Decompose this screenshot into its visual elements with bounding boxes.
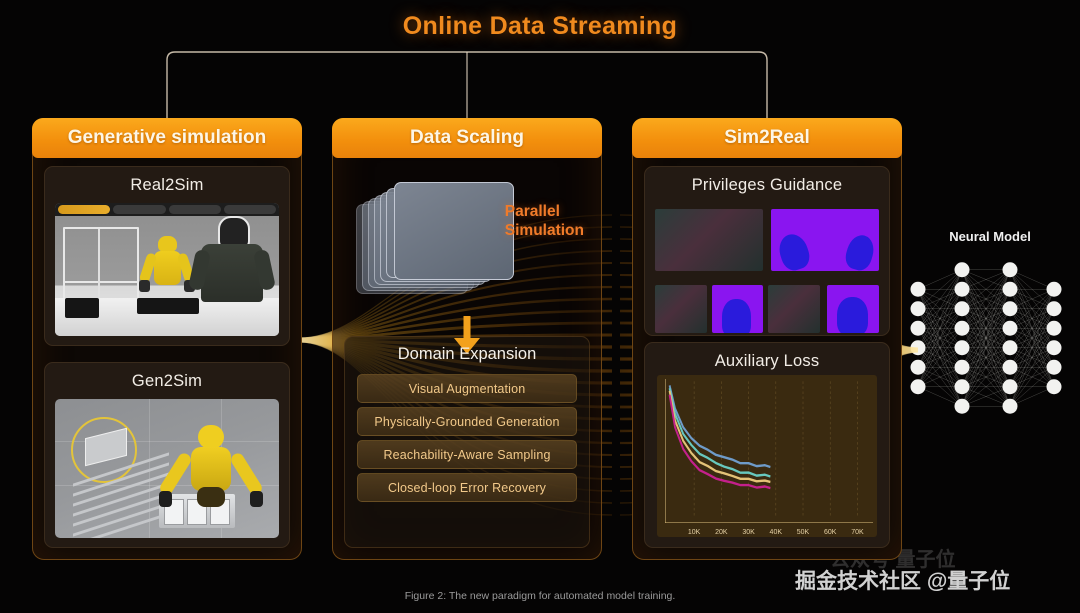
neuron-node	[955, 321, 970, 336]
video-tab-1[interactable]	[113, 205, 165, 214]
card-title-real2sim: Real2Sim	[45, 167, 289, 202]
video-tab-0[interactable]	[58, 205, 110, 214]
tile-right-wrist-camera: Right wrist camera	[768, 285, 820, 333]
column-sim2real: Sim2Real Privileges Guidance Main view c…	[632, 118, 902, 560]
neuron-node	[1047, 282, 1062, 297]
neuron-node	[1003, 340, 1018, 355]
neuron-node	[955, 301, 970, 316]
neuron-node	[911, 340, 926, 355]
neuron-node	[955, 379, 970, 394]
neuron-node	[1003, 301, 1018, 316]
column-data-scaling: Data Scaling Parallel Simulation Domain …	[332, 118, 602, 560]
neuron-node	[1047, 379, 1062, 394]
column-header-data-scaling[interactable]: Data Scaling	[332, 118, 602, 158]
neuron-node	[911, 321, 926, 336]
card-gen2sim[interactable]: Gen2Sim	[44, 362, 290, 548]
tile-right-wrist-mask: Right wrist view mask	[827, 285, 879, 333]
neural-model-title: Neural Model	[905, 229, 1075, 244]
x-axis-tick: 20K	[715, 529, 727, 536]
human-figure	[199, 216, 265, 302]
neuron-node	[955, 399, 970, 414]
neuron-node	[911, 282, 926, 297]
video-tab-bar[interactable]	[55, 203, 279, 216]
list-item[interactable]: Closed-loop Error Recovery	[357, 473, 577, 502]
real2sim-video[interactable]	[55, 203, 279, 336]
parallel-simulation-block: Parallel Simulation	[344, 166, 590, 326]
card-domain-expansion: Domain Expansion Visual Augmentation Phy…	[344, 336, 590, 548]
neuron-node	[1003, 262, 1018, 277]
neuron-node	[1003, 399, 1018, 414]
card-real2sim[interactable]: Real2Sim	[44, 166, 290, 346]
robot-figure	[171, 425, 251, 509]
x-axis-tick: 70K	[851, 529, 863, 536]
robot-figure	[147, 236, 187, 298]
card-title-auxiliary-loss: Auxiliary Loss	[645, 343, 889, 378]
neuron-node	[955, 340, 970, 355]
box-prop-left	[65, 298, 99, 318]
neuron-node	[1047, 360, 1062, 375]
x-axis-tick: 50K	[797, 529, 809, 536]
x-axis-tick: 40K	[770, 529, 782, 536]
tile-left-wrist-camera: Left wrist camera	[655, 285, 707, 333]
x-axis-tick: 10K	[688, 529, 700, 536]
list-item[interactable]: Visual Augmentation	[357, 374, 577, 403]
column-header-sim2real[interactable]: Sim2Real	[632, 118, 902, 158]
simulation-frame-stack	[356, 178, 506, 298]
video-tab-2[interactable]	[169, 205, 221, 214]
neuron-node	[955, 262, 970, 277]
auxiliary-loss-chart: 10K20K30K40K50K60K70K	[657, 375, 877, 537]
domain-expansion-list: Visual Augmentation Physically-Grounded …	[345, 374, 589, 514]
list-item[interactable]: Reachability-Aware Sampling	[357, 440, 577, 469]
loss-curve	[670, 388, 771, 476]
gen2sim-video[interactable]	[55, 399, 279, 538]
neuron-node	[1047, 340, 1062, 355]
privileges-tile-grid: Main view camera Main view mask Left wri…	[655, 199, 879, 327]
loss-curve	[670, 385, 771, 467]
x-axis-tick: 60K	[824, 529, 836, 536]
column-header-generative-simulation[interactable]: Generative simulation	[32, 118, 302, 158]
page-title: Online Data Streaming	[0, 12, 1080, 41]
tile-main-view-camera: Main view camera	[655, 209, 763, 271]
neuron-node	[1003, 360, 1018, 375]
column-generative-simulation: Generative simulation Real2Sim	[32, 118, 302, 560]
neuron-node	[911, 360, 926, 375]
card-auxiliary-loss: Auxiliary Loss 10K20K30K40K50K60K70K	[644, 342, 890, 548]
neural-network-diagram	[900, 248, 1072, 428]
neuron-node	[1003, 321, 1018, 336]
card-title-gen2sim: Gen2Sim	[45, 363, 289, 398]
tile-main-view-mask: Main view mask	[771, 209, 879, 271]
neuron-node	[955, 360, 970, 375]
list-item[interactable]: Physically-Grounded Generation	[357, 407, 577, 436]
neuron-node	[911, 301, 926, 316]
neuron-node	[1047, 321, 1062, 336]
x-axis-tick: 30K	[742, 529, 754, 536]
neuron-node	[911, 379, 926, 394]
tile-left-wrist-mask: Left wrist view mask	[712, 285, 764, 333]
neuron-node	[1003, 282, 1018, 297]
video-tab-3[interactable]	[224, 205, 276, 214]
parallel-simulation-label: Parallel Simulation	[505, 202, 584, 241]
watermark: 掘金技术社区 @量子位	[795, 565, 1010, 595]
neuron-node	[1047, 301, 1062, 316]
neuron-node	[1003, 379, 1018, 394]
card-title-domain-expansion: Domain Expansion	[345, 337, 589, 370]
card-privileges-guidance: Privileges Guidance Main view camera Mai…	[644, 166, 890, 336]
box-prop-center	[137, 298, 199, 314]
card-title-privileges-guidance: Privileges Guidance	[645, 167, 889, 202]
neuron-node	[955, 282, 970, 297]
